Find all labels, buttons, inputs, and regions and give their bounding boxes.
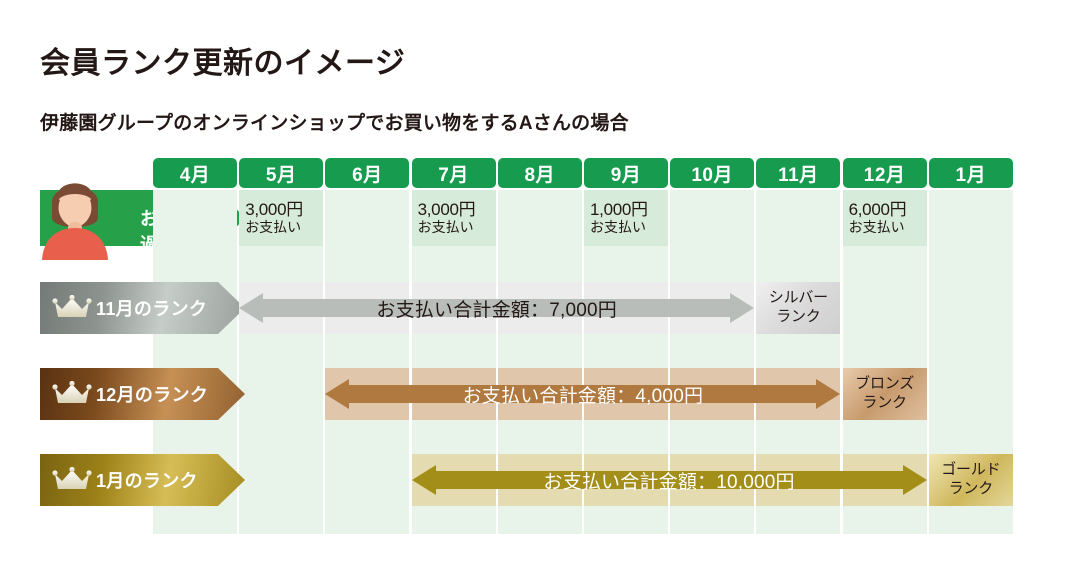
page-title: 会員ランク更新のイメージ	[40, 38, 405, 82]
female-avatar-icon	[38, 172, 112, 260]
month-header-4: 8月	[498, 158, 582, 188]
rank-badge-silver: シルバーランク	[756, 282, 840, 334]
month-header-label: 6月	[352, 160, 383, 187]
month-header-8: 12月	[843, 158, 927, 188]
rank-badge-line1: ブロンズ	[855, 375, 914, 394]
crown-icon	[52, 295, 92, 321]
month-header-label: 7月	[438, 160, 469, 187]
rank-badge-line2: ランク	[949, 480, 993, 499]
month-header-6: 10月	[670, 158, 754, 188]
payment-amount: 3,000円	[418, 200, 476, 220]
crown-icon	[52, 381, 92, 407]
month-header-label: 1月	[956, 160, 987, 187]
rank-badge-line1: シルバー	[769, 289, 828, 308]
payment-cell-1: 3,000円お支払い	[239, 190, 323, 246]
month-column-band	[325, 190, 409, 534]
month-header-3: 7月	[412, 158, 496, 188]
rank-arrow-text: お支払い合計金額：7,000円	[376, 295, 617, 322]
payment-note: お支払い	[590, 219, 646, 236]
rank-badge-line2: ランク	[776, 308, 820, 327]
rank-arrow-text: お支払い合計金額：10,000円	[543, 467, 794, 494]
rank-badge-bronze: ブロンズランク	[843, 368, 927, 420]
month-header-label: 10月	[691, 160, 733, 187]
month-header-label: 12月	[864, 160, 906, 187]
month-header-label: 8月	[525, 160, 556, 187]
rank-label-text: 1月のランク	[96, 467, 198, 493]
crown-icon	[52, 467, 92, 493]
rank-label-text: 12月のランク	[96, 381, 208, 407]
column-separator	[927, 368, 929, 420]
payment-cell-3: 3,000円お支払い	[412, 190, 496, 246]
rank-badge-line1: ゴールド	[941, 461, 1000, 480]
month-header-label: 9月	[611, 160, 642, 187]
rank-arrow-bronze: お支払い合計金額：4,000円	[325, 379, 840, 409]
column-separator	[1013, 454, 1015, 506]
rank-label-gold: 1月のランク	[40, 454, 245, 506]
rank-arrow-gold: お支払い合計金額：10,000円	[412, 465, 927, 495]
payment-amount: 6,000円	[849, 200, 907, 220]
month-header-9: 1月	[929, 158, 1013, 188]
payment-note: お支払い	[849, 219, 905, 236]
month-header-2: 6月	[325, 158, 409, 188]
month-header-1: 5月	[239, 158, 323, 188]
payment-amount: 1,000円	[590, 200, 648, 220]
page-subtitle: 伊藤園グループのオンラインショップでお買い物をするAさんの場合	[40, 108, 629, 135]
rank-label-bronze: 12月のランク	[40, 368, 245, 420]
payment-note: お支払い	[418, 219, 474, 236]
rank-arrow-silver: お支払い合計金額：7,000円	[239, 293, 754, 323]
rank-label-text: 11月のランク	[96, 295, 207, 321]
month-header-label: 11月	[778, 160, 819, 187]
column-separator	[840, 282, 842, 334]
payment-cell-8: 6,000円お支払い	[843, 190, 927, 246]
month-header-7: 11月	[756, 158, 840, 188]
month-header-label: 4月	[180, 160, 211, 187]
payment-cell-5: 1,000円お支払い	[584, 190, 668, 246]
rank-badge-line2: ランク	[862, 394, 906, 413]
payment-note: お支払い	[245, 219, 301, 236]
month-header-label: 5月	[266, 160, 297, 187]
month-header-0: 4月	[153, 158, 237, 188]
month-header-5: 9月	[584, 158, 668, 188]
payment-amount: 3,000円	[245, 200, 303, 220]
rank-badge-gold: ゴールドランク	[929, 454, 1013, 506]
rank-arrow-text: お支払い合計金額：4,000円	[463, 381, 704, 408]
rank-label-silver: 11月のランク	[40, 282, 245, 334]
